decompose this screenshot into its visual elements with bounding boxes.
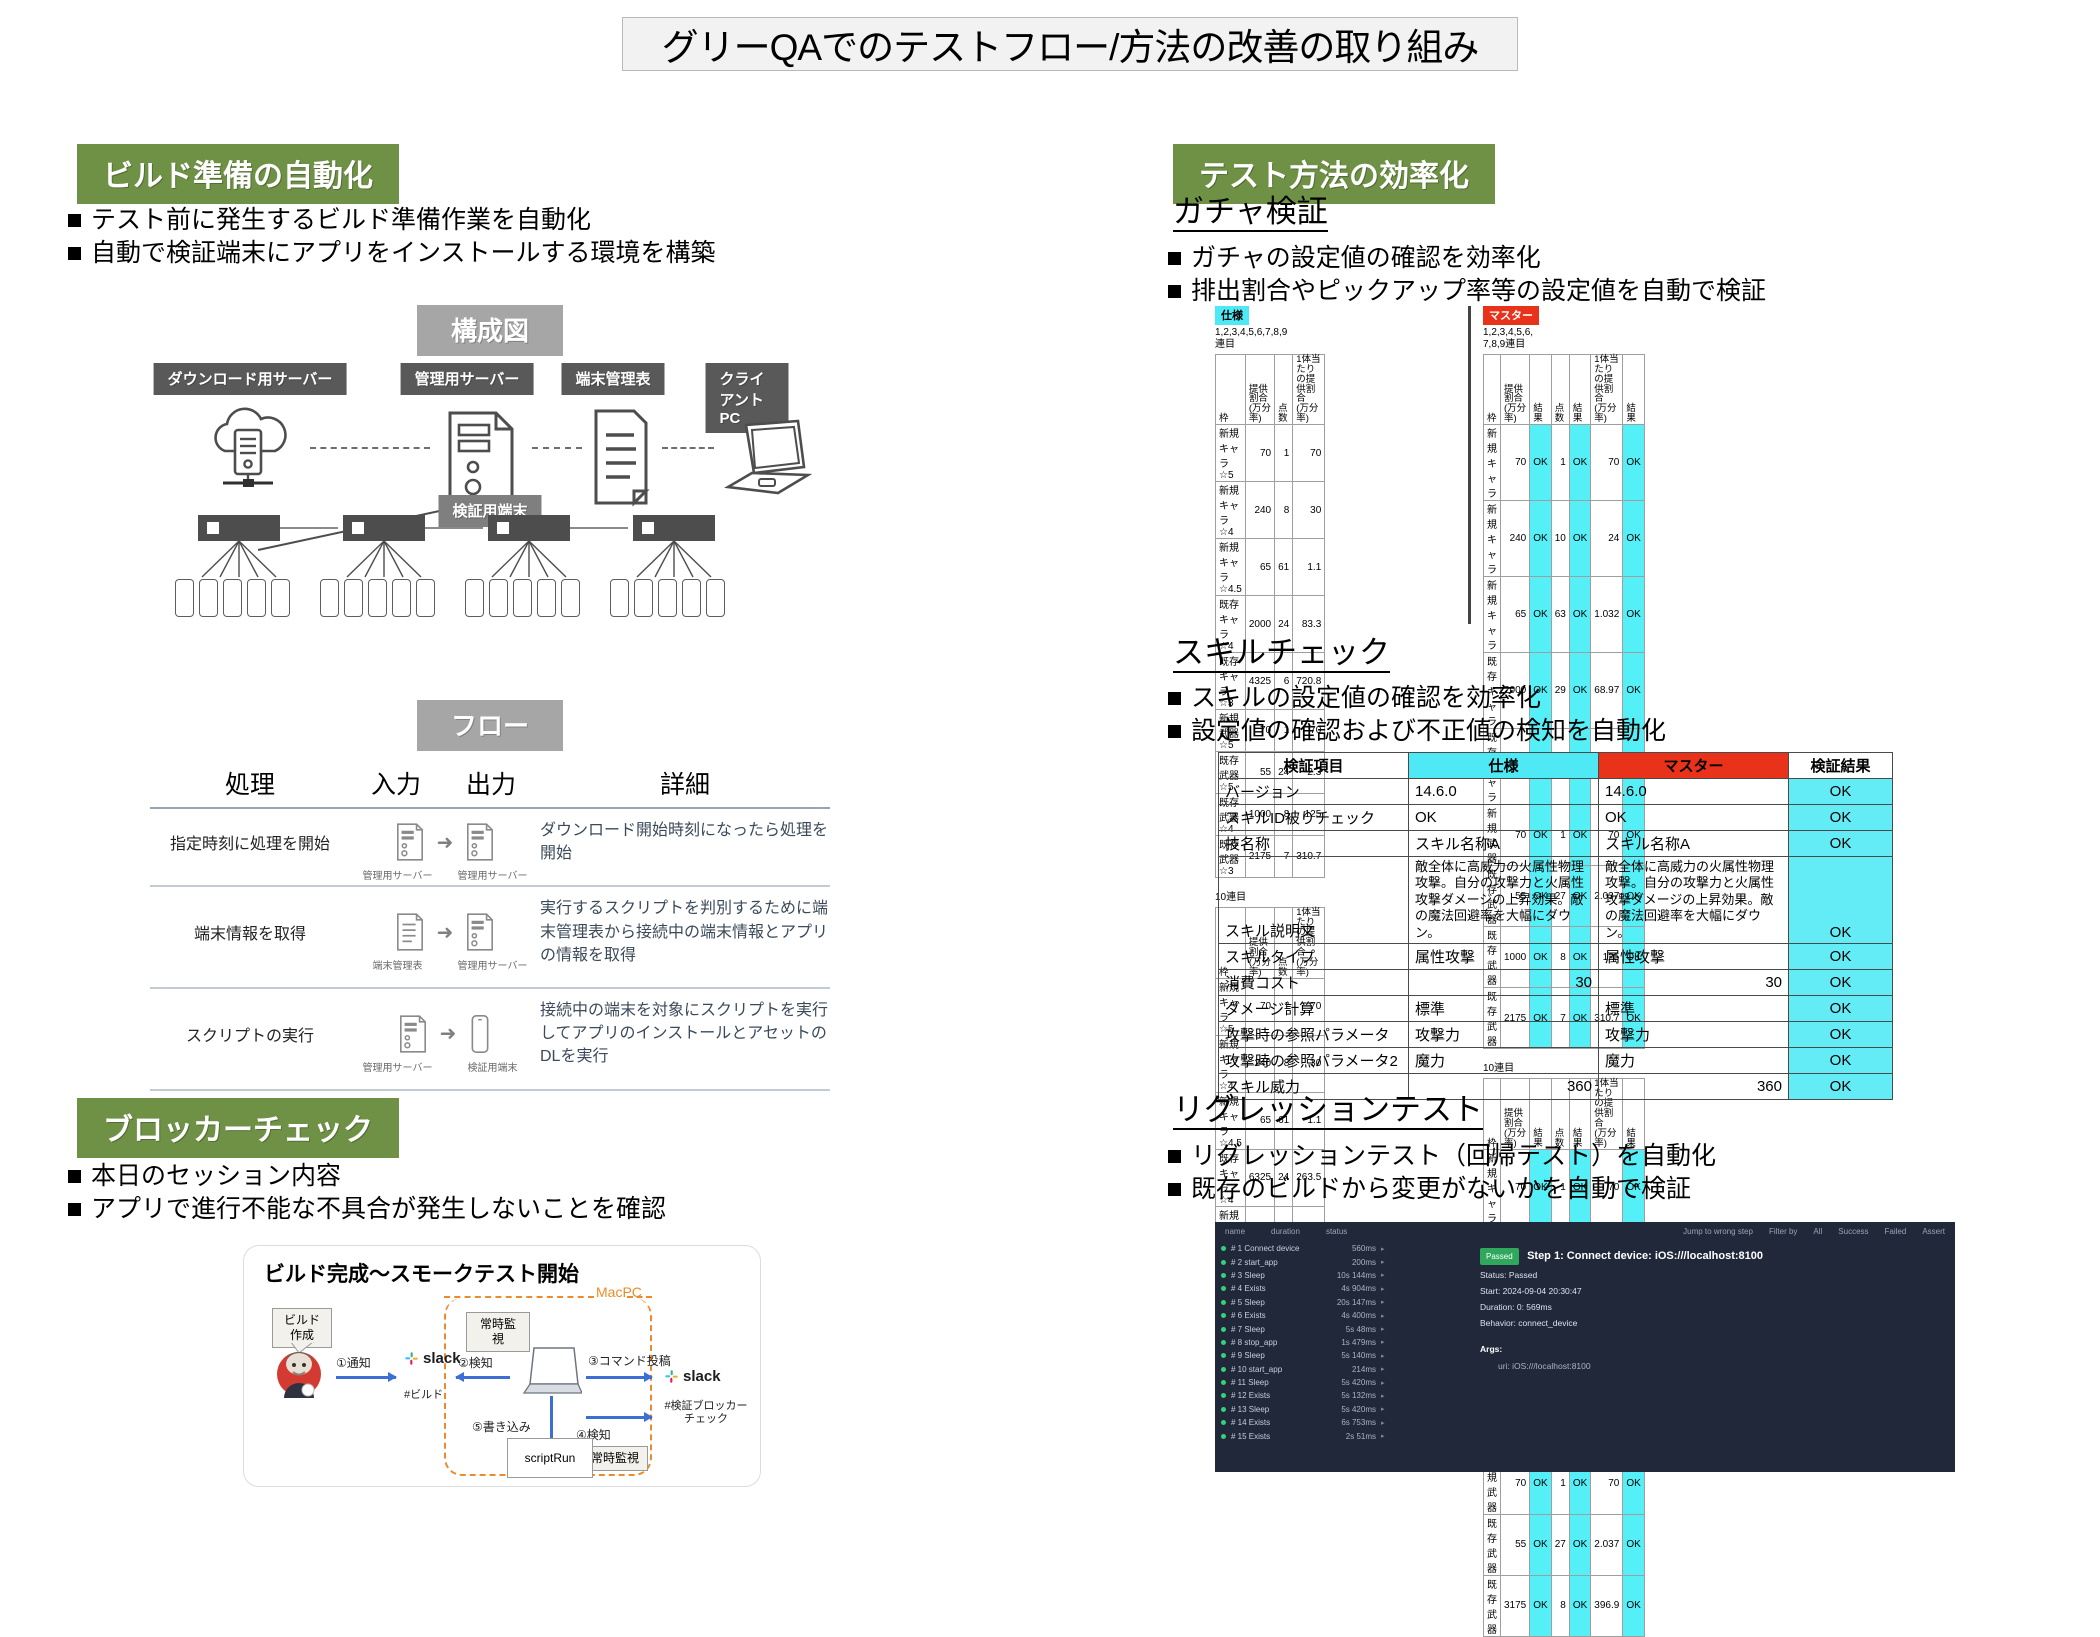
- table-row: 新規キャラ70OK1OK70OK: [1484, 425, 1645, 501]
- cell-per-unit: 70: [1591, 425, 1623, 501]
- arrow-right-icon: ➜: [437, 830, 454, 855]
- col-result-2: 結果: [1569, 354, 1590, 425]
- bullet-text: リグレッションテスト（回帰テスト）を自動化: [1191, 1140, 1716, 1173]
- flow-io-icons: ➜ 管理用サーバー 管理用サーバー: [350, 821, 540, 863]
- jump-to-wrong-step-link[interactable]: Jump to wrong step: [1683, 1227, 1753, 1236]
- col-duration: duration: [1271, 1227, 1300, 1236]
- slack-logo-2: slack: [664, 1368, 721, 1385]
- bullet-text: 自動で検証端末にアプリをインストールする環境を構築: [91, 237, 716, 270]
- cell-result: OK: [1623, 425, 1644, 501]
- regression-tool-screenshot: name duration status Jump to wrong step …: [1215, 1222, 1955, 1472]
- step-name: # 3 Sleep: [1231, 1271, 1319, 1280]
- phone-row: [320, 579, 435, 617]
- status-dot-icon: [1221, 1313, 1226, 1318]
- fan-lines: [198, 541, 280, 579]
- chevron-icon[interactable]: ▸: [1381, 1392, 1385, 1400]
- step-duration: 560ms: [1324, 1244, 1376, 1253]
- flow-input-caption: 管理用サーバー: [358, 1059, 438, 1074]
- connector-dashed-3: [662, 447, 714, 449]
- flow-io-icons: ➜ 管理用サーバー 検証用端末: [350, 1013, 540, 1055]
- cell-item: 攻撃時の参照パラメータ: [1219, 1021, 1409, 1047]
- step-duration: 5s 420ms: [1324, 1405, 1376, 1414]
- cell-result: OK: [1789, 857, 1893, 944]
- table-row: 新規キャラ240OK10OK24OK: [1484, 501, 1645, 577]
- bullet-square-icon: [68, 1170, 81, 1183]
- cloud-server-icon: [205, 405, 297, 491]
- step-name: # 7 Sleep: [1231, 1325, 1319, 1334]
- chevron-icon[interactable]: ▸: [1381, 1258, 1385, 1266]
- master-note-1: 1,2,3,4,5,6, 7,8,9連目: [1483, 327, 1645, 351]
- cell-master: 敵全体に高威力の火属性物理攻撃。自分の攻撃力と火属性攻撃ダメージの上昇効果。敵の…: [1599, 857, 1789, 944]
- server-icon: [395, 821, 425, 863]
- cell-rate: 70: [1501, 425, 1530, 501]
- phone-icon: [465, 579, 484, 617]
- arrow-step1: [336, 1376, 396, 1379]
- status-dot-icon: [1221, 1300, 1226, 1305]
- architecture-chip: 構成図: [417, 305, 563, 356]
- cell-result: OK: [1530, 1575, 1551, 1636]
- list-item: 自動で検証端末にアプリをインストールする環境を構築: [68, 237, 716, 270]
- cell-rate: 240: [1501, 501, 1530, 577]
- step-behavior: Behavior: connect_device: [1480, 1315, 1945, 1331]
- list-item[interactable]: # 7 Sleep5s 48ms▸: [1221, 1322, 1464, 1335]
- list-item: リグレッションテスト（回帰テスト）を自動化: [1168, 1140, 1716, 1173]
- list-item[interactable]: # 13 Sleep5s 420ms▸: [1221, 1403, 1464, 1416]
- cell-result: OK: [1569, 1575, 1590, 1636]
- cell-per-unit: 1.032: [1591, 577, 1623, 653]
- bullet-text: スキルの設定値の確認を効率化: [1191, 682, 1541, 715]
- list-item[interactable]: # 12 Exists5s 132ms▸: [1221, 1389, 1464, 1402]
- section-blocker-check-banner-wrap: ブロッカーチェック: [77, 1098, 399, 1158]
- status-dot-icon: [1221, 1393, 1226, 1398]
- flow-process: 指定時刻に処理を開始: [150, 830, 350, 854]
- args-value: uri: iOS:///localhost:8100: [1498, 1358, 1945, 1374]
- build-automation-bullets: テスト前に発生するビルド準備作業を自動化 自動で検証端末にアプリをインストールす…: [68, 204, 716, 270]
- list-item[interactable]: # 10 start_app214ms▸: [1221, 1363, 1464, 1376]
- macpc-laptop-icon: [520, 1346, 582, 1398]
- table-row: 新規キャラ☆4240830: [1216, 482, 1325, 539]
- blocker-diagram-title: ビルド完成～スモークテスト開始: [264, 1258, 579, 1288]
- section-build-automation-banner: ビルド準備の自動化: [77, 144, 399, 204]
- col-count: 点数: [1551, 354, 1569, 425]
- arrow-right-icon: ➜: [440, 1021, 457, 1046]
- master-tag: マスター: [1483, 306, 1539, 325]
- document-icon: [395, 911, 425, 953]
- table-row: スキル説明文 敵全体に高威力の火属性物理攻撃。自分の攻撃力と火属性攻撃ダメージの…: [1219, 857, 1893, 944]
- list-item[interactable]: # 15 Exists2s 51ms▸: [1221, 1429, 1464, 1442]
- list-item[interactable]: # 9 Sleep5s 140ms▸: [1221, 1349, 1464, 1362]
- bullet-text: 本日のセッション内容: [91, 1160, 341, 1193]
- divider: [150, 1089, 830, 1091]
- cell-item: スキルタイプ: [1219, 943, 1409, 969]
- table-row: 消費コスト3030OK: [1219, 969, 1893, 995]
- cell-master: OK: [1599, 805, 1789, 831]
- cell-per-unit: 396.9: [1591, 1575, 1623, 1636]
- hub-link: [425, 527, 483, 529]
- spec-tag: 仕様: [1215, 306, 1249, 325]
- table-row: 既存武器55OK27OK2.037OK: [1484, 1514, 1645, 1575]
- cell-master: 14.6.0: [1599, 779, 1789, 805]
- cell-frame: 新規キャラ: [1484, 577, 1501, 653]
- status-dot-icon: [1221, 1420, 1226, 1425]
- table-row: 指定時刻に処理を開始 ➜ 管理用サーバー 管理用サーバー ダウン: [150, 809, 830, 871]
- table-row: バージョン14.6.014.6.0OK: [1219, 779, 1893, 805]
- flow-header-output: 出力: [442, 765, 540, 801]
- phone-icon: [175, 579, 194, 617]
- cell-result: OK: [1569, 501, 1590, 577]
- step-name: # 4 Exists: [1231, 1284, 1319, 1293]
- phone-icon: [247, 579, 266, 617]
- cell-rate: 3175: [1501, 1575, 1530, 1636]
- status-dot-icon: [1221, 1273, 1226, 1278]
- table-row: 新規キャラ☆570170: [1216, 425, 1325, 482]
- list-item: ガチャの設定値の確認を効率化: [1168, 242, 1766, 275]
- phone-icon: [561, 579, 580, 617]
- cell-frame: 新規キャラ: [1484, 425, 1501, 501]
- cell-item: バージョン: [1219, 779, 1409, 805]
- bullet-square-icon: [68, 214, 81, 227]
- col-frame: 枠: [1216, 354, 1246, 425]
- cell-result: OK: [1569, 577, 1590, 653]
- hub-bar: [198, 515, 280, 541]
- step-args: Args: uri: iOS:///localhost:8100: [1480, 1341, 1945, 1373]
- col-count: 点数: [1275, 354, 1293, 425]
- cell-spec: 攻撃力: [1409, 1021, 1599, 1047]
- step-start: Start: 2024-09-04 20:30:47: [1480, 1283, 1945, 1299]
- flow-output-caption: 管理用サーバー: [453, 867, 533, 882]
- bullet-square-icon: [1168, 692, 1181, 705]
- step-name: # 14 Exists: [1231, 1418, 1319, 1427]
- cell-frame: 新規キャラ: [1484, 501, 1501, 577]
- step2-label: ②検知: [458, 1354, 493, 1371]
- spec-note-1: 1,2,3,4,5,6,7,8,9 連目: [1215, 327, 1325, 351]
- chevron-icon[interactable]: ▸: [1381, 1271, 1385, 1279]
- flow-io-captions: 端末管理表 管理用サーバー: [350, 957, 540, 972]
- chevron-icon[interactable]: ▸: [1381, 1245, 1385, 1253]
- bullet-square-icon: [1168, 1183, 1181, 1196]
- cell-result: OK: [1789, 995, 1893, 1021]
- list-item[interactable]: # 3 Sleep10s 144ms▸: [1221, 1269, 1464, 1282]
- hub-bar: [488, 515, 570, 541]
- flow-header-detail: 詳細: [540, 765, 830, 801]
- table-header-row: 枠 提供割合 (万分率) 結果 点数 結果 1体当たり の提供割合 (万分率) …: [1484, 354, 1645, 425]
- regression-body: # 1 Connect device560ms▸ # 2 start_app20…: [1215, 1240, 1955, 1472]
- status-dot-icon: [1221, 1327, 1226, 1332]
- cell-per-unit: 24: [1591, 501, 1623, 577]
- blocker-flow-diagram: ビルド完成～スモークテスト開始 MacPC ビルド 作成 ①通知: [243, 1245, 761, 1487]
- cell-rate: 240: [1245, 482, 1274, 539]
- regression-columns: name duration status: [1225, 1227, 1345, 1236]
- cell-count: 61: [1275, 539, 1293, 596]
- args-label: Args:: [1480, 1341, 1945, 1357]
- phone-icon: [610, 579, 629, 617]
- slack-icon: [664, 1369, 679, 1384]
- chevron-icon[interactable]: ▸: [1381, 1325, 1385, 1333]
- regression-step-detail: Passed Step 1: Connect device: iOS:///lo…: [1470, 1240, 1955, 1472]
- step-duration: 2s 51ms: [1324, 1432, 1376, 1441]
- phone-icon: [320, 579, 339, 617]
- step3-label: ③コマンド投稿: [588, 1352, 671, 1369]
- cell-result: OK: [1789, 779, 1893, 805]
- server-icon: [465, 911, 495, 953]
- cell-spec: 魔力: [1409, 1047, 1599, 1073]
- chevron-icon[interactable]: ▸: [1381, 1285, 1385, 1293]
- flow-detail: 接続中の端末を対象にスクリプトを実行してアプリのインストールとアセットのDLを実…: [540, 999, 830, 1069]
- list-item[interactable]: # 14 Exists6s 753ms▸: [1221, 1416, 1464, 1429]
- connector-dashed-1: [310, 447, 430, 449]
- phone-icon: [223, 579, 242, 617]
- chevron-icon[interactable]: ▸: [1381, 1352, 1385, 1360]
- step-name: # 10 start_app: [1231, 1365, 1319, 1374]
- list-item: 本日のセッション内容: [68, 1160, 666, 1193]
- node-label-download-server: ダウンロード用サーバー: [154, 363, 347, 395]
- step-duration: 1s 479ms: [1324, 1338, 1376, 1347]
- chevron-icon[interactable]: ▸: [1381, 1379, 1385, 1387]
- cell-spec: OK: [1409, 805, 1599, 831]
- table-row: 新規キャラ☆4.565611.1: [1216, 539, 1325, 596]
- step-duration: 200ms: [1324, 1258, 1376, 1267]
- cell-per-unit: 70: [1293, 425, 1325, 482]
- device-table-document-icon: [590, 405, 652, 509]
- cell-count: 10: [1551, 501, 1569, 577]
- step-duration: 5s 132ms: [1324, 1391, 1376, 1400]
- regression-bullets: リグレッションテスト（回帰テスト）を自動化 既存のビルドから変更がないかを自動で…: [1168, 1140, 1716, 1206]
- status-dot-icon: [1221, 1340, 1226, 1345]
- cell-result: OK: [1789, 943, 1893, 969]
- server-icon: [398, 1013, 428, 1055]
- filter-assert[interactable]: Assert: [1922, 1227, 1945, 1236]
- cell-master: 標準: [1599, 995, 1789, 1021]
- cell-count: 63: [1551, 577, 1569, 653]
- arrow-right-icon: ➜: [437, 920, 454, 945]
- phone-icon: [199, 579, 218, 617]
- step-header: Passed Step 1: Connect device: iOS:///lo…: [1480, 1246, 1945, 1267]
- step-duration: 5s 140ms: [1324, 1351, 1376, 1360]
- cell-item: 攻撃時の参照パラメータ2: [1219, 1047, 1409, 1073]
- step-duration: 6s 753ms: [1324, 1418, 1376, 1427]
- step-duration: 20s 147ms: [1324, 1298, 1376, 1307]
- slack-channel-build: #ビルド: [404, 1386, 443, 1402]
- cell-count: 1: [1551, 425, 1569, 501]
- skill-subhead-wrap: スキルチェック: [1173, 635, 1390, 675]
- hub-bar: [633, 515, 715, 541]
- step-title: Step 1: Connect device: iOS:///localhost…: [1527, 1250, 1763, 1262]
- col-frame: 枠: [1484, 354, 1501, 425]
- list-item[interactable]: # 4 Exists4s 904ms▸: [1221, 1282, 1464, 1295]
- bullet-square-icon: [1168, 252, 1181, 265]
- chevron-icon[interactable]: ▸: [1381, 1405, 1385, 1413]
- status-dot-icon: [1221, 1353, 1226, 1358]
- bullet-text: ガチャの設定値の確認を効率化: [1191, 242, 1541, 275]
- phone-row: [175, 579, 290, 617]
- col-item: 検証項目: [1219, 753, 1409, 779]
- flow-output-caption: 検証用端末: [453, 1059, 533, 1074]
- cell-result: OK: [1623, 1514, 1644, 1575]
- list-item[interactable]: # 2 start_app200ms▸: [1221, 1255, 1464, 1268]
- chevron-icon[interactable]: ▸: [1381, 1298, 1385, 1306]
- cell-result: OK: [1530, 425, 1551, 501]
- cell-result: OK: [1789, 1021, 1893, 1047]
- col-name: name: [1225, 1227, 1245, 1236]
- flow-process: 端末情報を取得: [150, 920, 350, 944]
- cell-per-unit: 30: [1293, 482, 1325, 539]
- flow-header-process: 処理: [150, 765, 350, 801]
- device-group: [198, 515, 280, 541]
- list-item[interactable]: # 8 stop_app1s 479ms▸: [1221, 1336, 1464, 1349]
- flow-header-row: 処理 入力 出力 詳細: [150, 765, 830, 807]
- skill-subhead: スキルチェック: [1173, 635, 1390, 673]
- col-spec: 仕様: [1409, 753, 1599, 779]
- list-item: スキルの設定値の確認を効率化: [1168, 682, 1666, 715]
- col-master: マスター: [1599, 753, 1789, 779]
- cell-per-unit: 1.1: [1293, 539, 1325, 596]
- phone-icon: [682, 579, 701, 617]
- node-label-management-server: 管理用サーバー: [401, 363, 534, 395]
- filter-all[interactable]: All: [1813, 1227, 1822, 1236]
- list-item[interactable]: # 5 Sleep20s 147ms▸: [1221, 1296, 1464, 1309]
- cell-master: 360: [1599, 1073, 1789, 1099]
- chevron-icon[interactable]: ▸: [1381, 1312, 1385, 1320]
- cell-spec: スキル名称A: [1409, 831, 1599, 857]
- col-rate: 提供割合 (万分率): [1501, 354, 1530, 425]
- blocker-check-bullets: 本日のセッション内容 アプリで進行不能な不具合が発生しないことを確認: [68, 1160, 666, 1226]
- regression-subhead-wrap: リグレッションテスト: [1173, 1092, 1483, 1132]
- chevron-icon[interactable]: ▸: [1381, 1432, 1385, 1440]
- cell-item: スキル説明文: [1219, 857, 1409, 944]
- status-dot-icon: [1221, 1407, 1226, 1412]
- status-badge: Passed: [1480, 1248, 1519, 1265]
- step-name: # 2 start_app: [1231, 1258, 1319, 1267]
- slack-logo-1: slack: [404, 1350, 461, 1367]
- step-name: # 15 Exists: [1231, 1432, 1319, 1441]
- list-item: 設定値の確認および不正値の検知を自動化: [1168, 715, 1666, 748]
- connector-dashed-2: [532, 447, 582, 449]
- server-icon: [465, 821, 495, 863]
- table-row: 既存武器3175OK8OK396.9OK: [1484, 1575, 1645, 1636]
- col-per-unit: 1体当たり の提供割合 (万分率): [1293, 354, 1325, 425]
- script-run-node: scriptRun: [507, 1438, 593, 1478]
- cell-result: OK: [1569, 1514, 1590, 1575]
- filter-failed[interactable]: Failed: [1885, 1227, 1907, 1236]
- status-dot-icon: [1221, 1380, 1226, 1385]
- filter-by-label: Filter by: [1769, 1227, 1797, 1236]
- cell-result: OK: [1623, 577, 1644, 653]
- step-name: # 1 Connect device: [1231, 1244, 1319, 1253]
- cell-rate: 65: [1501, 577, 1530, 653]
- cell-item: 技名称: [1219, 831, 1409, 857]
- left-column: ビルド準備の自動化 テスト前に発生するビルド準備作業を自動化 自動で検証端末にア…: [0, 0, 1140, 1503]
- cell-result: OK: [1530, 1514, 1551, 1575]
- cell-result: OK: [1789, 831, 1893, 857]
- col-per-unit: 1体当たり の提供割合 (万分率): [1591, 354, 1623, 425]
- cell-frame: 新規キャラ☆4: [1216, 482, 1246, 539]
- fan-lines: [633, 541, 715, 579]
- section-blocker-check-banner: ブロッカーチェック: [77, 1098, 399, 1158]
- cell-result: OK: [1789, 1073, 1893, 1099]
- list-item: 排出割合やピックアップ率等の設定値を自動で検証: [1168, 275, 1766, 308]
- step-name: # 11 Sleep: [1231, 1378, 1319, 1387]
- bullet-text: アプリで進行不能な不具合が発生しないことを確認: [91, 1193, 666, 1226]
- step-duration: 4s 904ms: [1324, 1284, 1376, 1293]
- col-status: status: [1326, 1227, 1347, 1236]
- arrow-step4: [586, 1416, 652, 1419]
- list-item[interactable]: # 6 Exists4s 400ms▸: [1221, 1309, 1464, 1322]
- cell-count: 8: [1551, 1575, 1569, 1636]
- phone-icon: [468, 1013, 492, 1055]
- cell-frame: 新規キャラ☆5: [1216, 425, 1246, 482]
- cell-result: OK: [1789, 805, 1893, 831]
- table-row: スクリプトの実行 ➜ 管理用サーバー 検証用端末 接続中の端末を対象にスクリプト…: [150, 989, 830, 1075]
- cell-item: スキルID被りチェック: [1219, 805, 1409, 831]
- list-item: テスト前に発生するビルド準備作業を自動化: [68, 204, 716, 237]
- phone-row: [610, 579, 725, 617]
- slack-channel-blocker: #検証ブロッカー チェック: [658, 1400, 754, 1426]
- gacha-subhead-wrap: ガチャ検証: [1173, 194, 1328, 234]
- table-row: スキルID被りチェックOKOKOK: [1219, 805, 1893, 831]
- cell-frame: 既存武器: [1484, 1514, 1501, 1575]
- device-group: [343, 515, 425, 541]
- table-row: スキルタイプ属性攻撃属性攻撃OK: [1219, 943, 1893, 969]
- phone-icon: [489, 579, 508, 617]
- col-result-1: 結果: [1530, 354, 1551, 425]
- regression-toolbar: name duration status Jump to wrong step …: [1215, 1222, 1955, 1240]
- architecture-chip-wrap: 構成図: [417, 305, 563, 356]
- regression-step-list: # 1 Connect device560ms▸ # 2 start_app20…: [1215, 1240, 1470, 1472]
- step1-label: ①通知: [336, 1354, 371, 1371]
- step5-label: ⑤書き込み: [472, 1418, 531, 1435]
- cell-frame: 新規キャラ☆4.5: [1216, 539, 1246, 596]
- device-group: [488, 515, 570, 541]
- cell-count: 1: [1275, 425, 1293, 482]
- chevron-icon[interactable]: ▸: [1381, 1365, 1385, 1373]
- chevron-icon[interactable]: ▸: [1381, 1338, 1385, 1346]
- step-status: Status: Passed: [1480, 1267, 1945, 1283]
- bullet-square-icon: [1168, 285, 1181, 298]
- step-name: # 12 Exists: [1231, 1391, 1319, 1400]
- filter-success[interactable]: Success: [1838, 1227, 1868, 1236]
- status-dot-icon: [1221, 1260, 1226, 1265]
- jenkins-butler-avatar: [274, 1350, 324, 1398]
- section-build-automation-banner-wrap: ビルド準備の自動化: [77, 144, 399, 204]
- step-duration: 10s 144ms: [1324, 1271, 1376, 1280]
- phone-icon: [368, 579, 387, 617]
- table-divider: [1468, 306, 1471, 624]
- list-item[interactable]: # 11 Sleep5s 420ms▸: [1221, 1376, 1464, 1389]
- cell-count: 8: [1275, 482, 1293, 539]
- chevron-icon[interactable]: ▸: [1381, 1419, 1385, 1427]
- col-result: 検証結果: [1789, 753, 1893, 779]
- flow-io-icons: ➜ 端末管理表 管理用サーバー: [350, 911, 540, 953]
- phone-icon: [271, 579, 290, 617]
- table-row: 技名称スキル名称Aスキル名称AOK: [1219, 831, 1893, 857]
- skill-check-table: 検証項目 仕様 マスター 検証結果 バージョン14.6.014.6.0OK スキ…: [1218, 752, 1893, 1100]
- phone-icon: [658, 579, 677, 617]
- step-duration: 5s 420ms: [1324, 1378, 1376, 1387]
- cell-result: OK: [1789, 1047, 1893, 1073]
- architecture-node-labels: ダウンロード用サーバー 管理用サーバー 端末管理表 クライアントPC: [150, 363, 830, 391]
- right-column: テスト方法の効率化 ガチャ検証 ガチャの設定値の確認を効率化 排出割合やピックア…: [1140, 0, 2100, 1503]
- step-duration: 4s 400ms: [1324, 1311, 1376, 1320]
- phone-icon: [706, 579, 725, 617]
- phone-icon: [634, 579, 653, 617]
- node-label-device-table: 端末管理表: [561, 363, 664, 395]
- flow-chip: フロー: [417, 700, 563, 751]
- architecture-diagram: 構成図 ダウンロード用サーバー 管理用サーバー 端末管理表 クライアントPC: [150, 305, 830, 655]
- step-name: # 8 stop_app: [1231, 1338, 1319, 1347]
- list-item[interactable]: # 1 Connect device560ms▸: [1221, 1242, 1464, 1255]
- status-dot-icon: [1221, 1286, 1226, 1291]
- cell-master: 攻撃力: [1599, 1021, 1789, 1047]
